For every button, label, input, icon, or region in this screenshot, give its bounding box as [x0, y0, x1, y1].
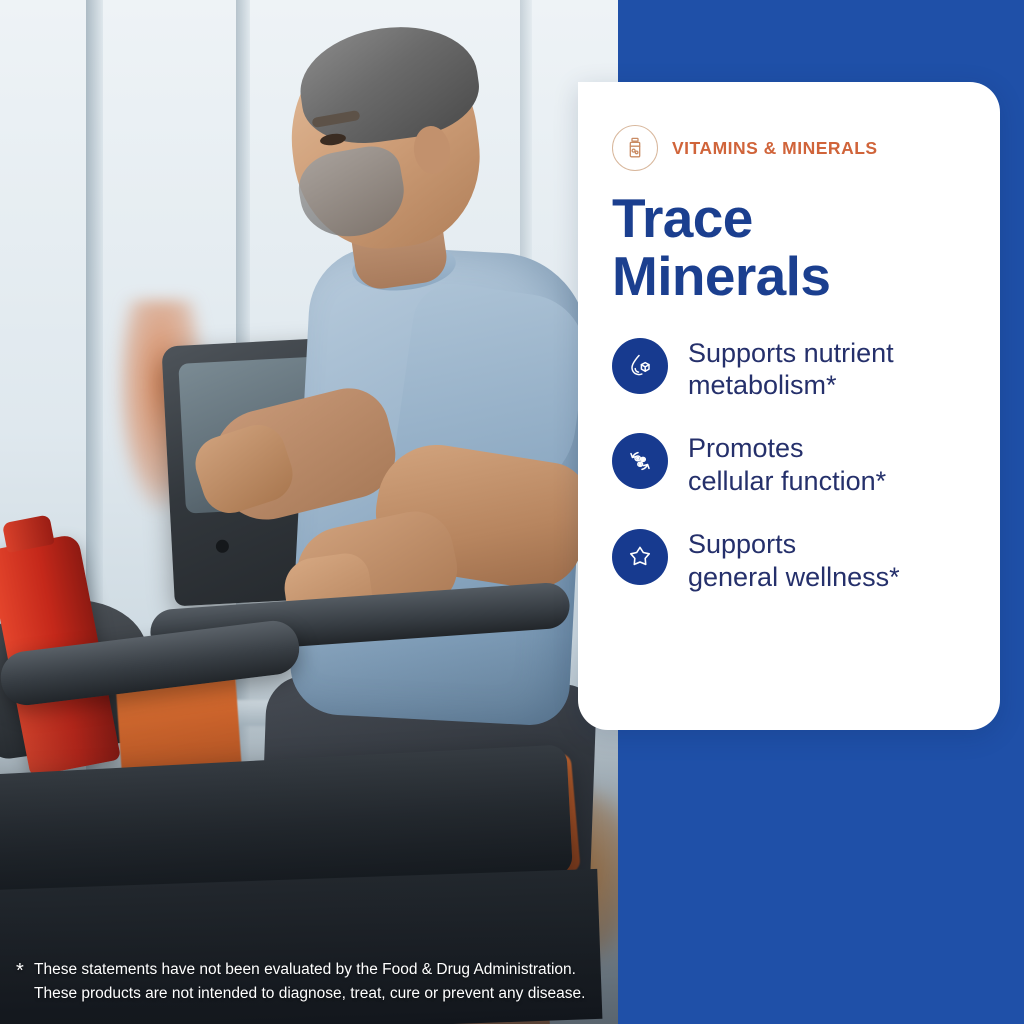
product-info-card: VITAMINS & MINERALS Trace Minerals	[578, 82, 1000, 730]
benefit-item: Supports general wellness*	[612, 527, 978, 594]
category-badge: VITAMINS & MINERALS	[612, 126, 978, 170]
benefit-line-2: metabolism*	[688, 369, 894, 402]
benefit-item: Supports nutrient metabolism*	[612, 336, 978, 403]
benefit-line-1: Supports nutrient	[688, 338, 894, 368]
cells-cycle-arrows-icon	[612, 433, 668, 489]
card-content: VITAMINS & MINERALS Trace Minerals	[612, 126, 978, 594]
benefit-line-2: general wellness*	[688, 561, 900, 594]
benefits-list: Supports nutrient metabolism*	[612, 336, 978, 595]
benefit-line-2: cellular function*	[688, 465, 886, 498]
benefit-line-1: Promotes	[688, 433, 804, 463]
disclaimer-line-2: These products are not intended to diagn…	[16, 982, 616, 1006]
fda-disclaimer: * These statements have not been evaluat…	[16, 958, 616, 1006]
page-title: Trace Minerals	[612, 190, 978, 306]
benefit-text: Supports general wellness*	[688, 527, 900, 594]
category-badge-label: VITAMINS & MINERALS	[672, 138, 878, 159]
disclaimer-asterisk: *	[16, 956, 24, 987]
hero-photo-man-on-treadmill	[0, 0, 624, 1024]
disclaimer-line-1: These statements have not been evaluated…	[16, 958, 616, 982]
benefit-text: Supports nutrient metabolism*	[688, 336, 894, 403]
star-icon	[612, 529, 668, 585]
water-droplet-cube-icon	[612, 338, 668, 394]
benefit-item: Promotes cellular function*	[612, 431, 978, 498]
title-line-1: Trace	[612, 187, 753, 249]
photo-bottom-shade	[0, 0, 624, 1024]
infographic-page: VITAMINS & MINERALS Trace Minerals	[0, 0, 1024, 1024]
benefit-text: Promotes cellular function*	[688, 431, 886, 498]
supplement-bottle-icon	[612, 125, 658, 171]
benefit-line-1: Supports	[688, 529, 796, 559]
title-line-2: Minerals	[612, 248, 978, 306]
